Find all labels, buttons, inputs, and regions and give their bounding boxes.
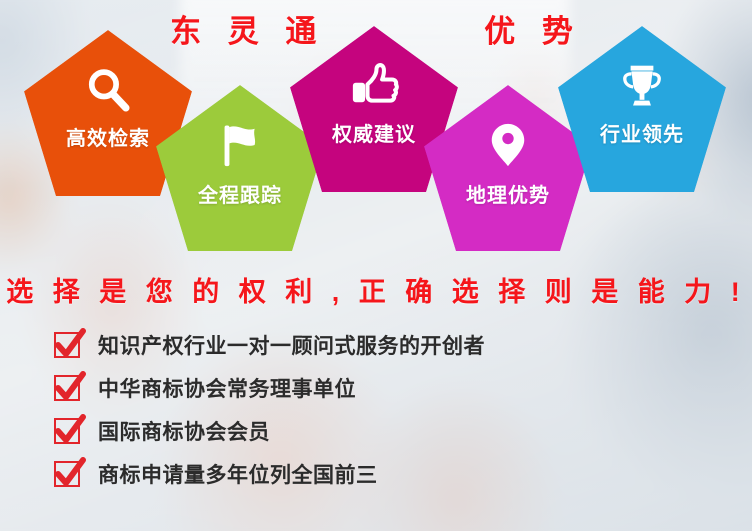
slogan: 选 择 是 您 的 权 利 , 正 确 选 择 则 是 能 力 ! [0, 270, 752, 309]
checkmark-icon [54, 461, 80, 487]
flag-icon [214, 119, 266, 171]
advantage-pentagon-row: 高效检索 全程跟踪 [0, 0, 752, 260]
checkmark-icon [54, 375, 80, 401]
promo-banner: 东 灵 通 优 势 高效检索 [0, 0, 752, 531]
list-item-label: 商标申请量多年位列全国前三 [98, 459, 378, 489]
map-pin-icon [482, 119, 534, 171]
list-item: 知识产权行业一对一顾问式服务的开创者 [54, 326, 694, 364]
list-item: 中华商标协会常务理事单位 [54, 369, 694, 407]
list-item-label: 中华商标协会常务理事单位 [98, 373, 356, 403]
magnifier-icon [82, 64, 134, 116]
list-item-label: 国际商标协会会员 [98, 416, 270, 446]
list-item: 国际商标协会会员 [54, 412, 694, 450]
advantage-card-leader[interactable]: 行业领先 [558, 26, 726, 192]
advantage-label: 行业领先 [600, 118, 684, 147]
thumbs-up-icon [348, 60, 400, 112]
advantage-label: 地理优势 [466, 179, 550, 208]
list-item-label: 知识产权行业一对一顾问式服务的开创者 [98, 330, 485, 360]
advantage-label: 全程跟踪 [198, 179, 282, 208]
checklist: 知识产权行业一对一顾问式服务的开创者 中华商标协会常务理事单位 国际商标协会会员 [54, 326, 694, 498]
trophy-icon [616, 60, 668, 112]
list-item: 商标申请量多年位列全国前三 [54, 455, 694, 493]
checkmark-icon [54, 332, 80, 358]
pentagon-content: 行业领先 [558, 26, 726, 192]
checkmark-icon [54, 418, 80, 444]
advantage-label: 权威建议 [332, 118, 416, 147]
advantage-label: 高效检索 [66, 122, 150, 151]
